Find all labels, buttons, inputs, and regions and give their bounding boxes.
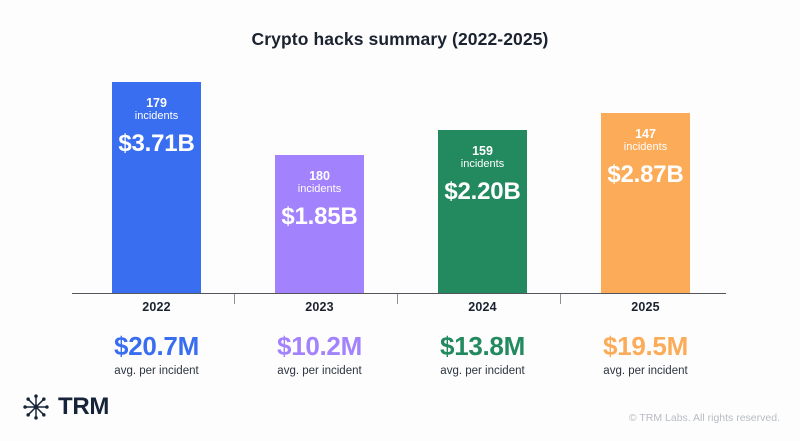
trm-logo-text: TRM	[58, 393, 109, 421]
avg-value-2022: $20.7M	[74, 331, 239, 362]
incident-word-2023: incidents	[275, 183, 364, 195]
incident-word-2024: incidents	[438, 158, 527, 170]
bar-chart-plot: 179 incidents $3.71B 180 incidents $1.85…	[0, 0, 800, 441]
x-axis-line	[72, 293, 726, 294]
bar-amount-2024: $2.20B	[438, 178, 527, 206]
bar-incidents-label-2022: 179 incidents	[112, 96, 201, 122]
bar-amount-2025: $2.87B	[601, 161, 690, 189]
avg-value-2024: $13.8M	[400, 331, 565, 362]
avg-caption-2023: avg. per incident	[237, 365, 402, 377]
avg-caption-2022: avg. per incident	[74, 365, 239, 377]
bar-incidents-label-2025: 147 incidents	[601, 127, 690, 153]
category-column-2024: 2024 $13.8M avg. per incident	[400, 300, 565, 377]
category-column-2022: 2022 $20.7M avg. per incident	[74, 300, 239, 377]
x-tick-label-2025: 2025	[563, 300, 728, 314]
trm-logo: TRM	[22, 393, 109, 421]
incident-count-2023: 180	[275, 169, 364, 183]
avg-caption-2024: avg. per incident	[400, 365, 565, 377]
bar-2024[interactable]: 159 incidents $2.20B	[438, 130, 527, 293]
incident-count-2025: 147	[601, 127, 690, 141]
avg-value-2023: $10.2M	[237, 331, 402, 362]
incident-count-2022: 179	[112, 96, 201, 110]
incident-count-2024: 159	[438, 144, 527, 158]
x-tick-label-2024: 2024	[400, 300, 565, 314]
incident-word-2022: incidents	[112, 110, 201, 122]
chart-canvas: Crypto hacks summary (2022-2025) 179 inc…	[0, 0, 800, 441]
asterisk-star-icon	[22, 393, 50, 421]
bar-incidents-label-2023: 180 incidents	[275, 169, 364, 195]
x-tick-label-2023: 2023	[237, 300, 402, 314]
copyright-text: © TRM Labs. All rights reserved.	[629, 412, 780, 424]
category-column-2025: 2025 $19.5M avg. per incident	[563, 300, 728, 377]
bar-amount-2023: $1.85B	[275, 203, 364, 231]
bar-2022[interactable]: 179 incidents $3.71B	[112, 82, 201, 293]
x-tick-label-2022: 2022	[74, 300, 239, 314]
avg-caption-2025: avg. per incident	[563, 365, 728, 377]
avg-value-2025: $19.5M	[563, 331, 728, 362]
bar-2025[interactable]: 147 incidents $2.87B	[601, 113, 690, 293]
bar-2023[interactable]: 180 incidents $1.85B	[275, 155, 364, 293]
bar-incidents-label-2024: 159 incidents	[438, 144, 527, 170]
bar-amount-2022: $3.71B	[112, 130, 201, 158]
incident-word-2025: incidents	[601, 141, 690, 153]
category-column-2023: 2023 $10.2M avg. per incident	[237, 300, 402, 377]
